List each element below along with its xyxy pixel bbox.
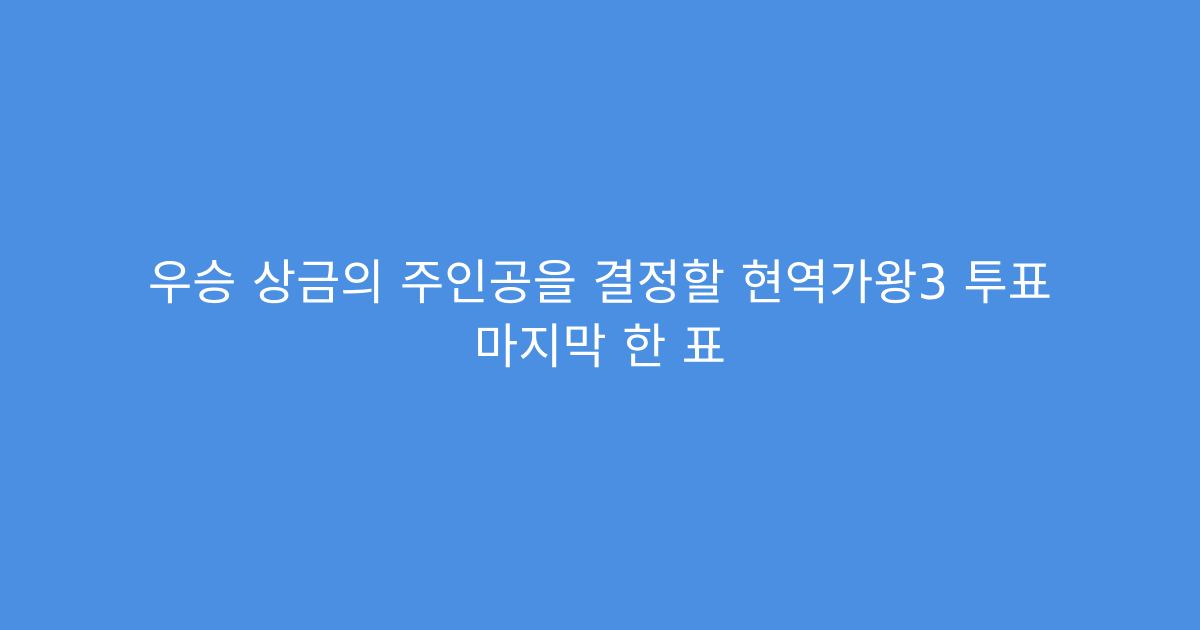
headline-line-2: 마지막 한 표 (95, 315, 1105, 379)
page-title: 우승 상금의 주인공을 결정할 현역가왕3 투표 마지막 한 표 (95, 251, 1105, 379)
headline-line-1: 우승 상금의 주인공을 결정할 현역가왕3 투표 (95, 251, 1105, 315)
og-card-canvas: 우승 상금의 주인공을 결정할 현역가왕3 투표 마지막 한 표 (0, 0, 1200, 630)
